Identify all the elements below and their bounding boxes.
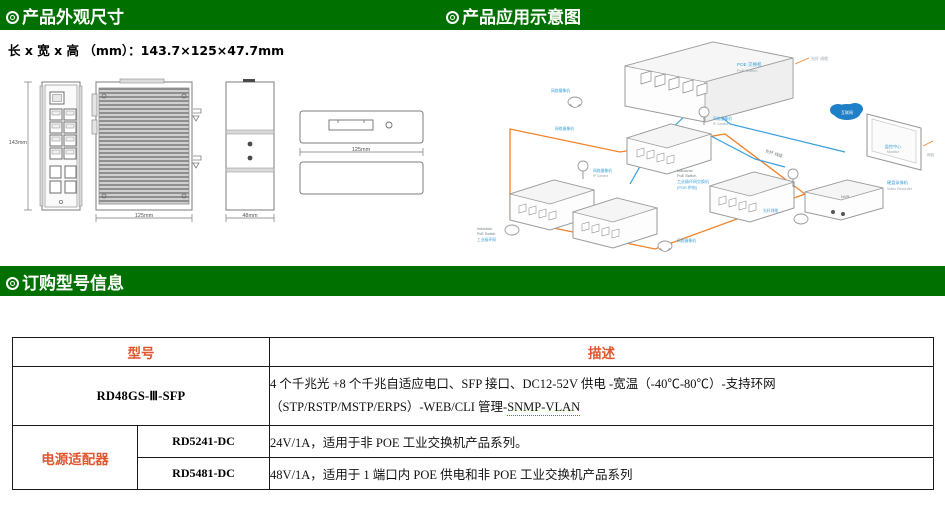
svg-text:125mm: 125mm	[352, 147, 371, 153]
section-header-bar-order: 订购型号信息	[0, 266, 945, 296]
product-dimension-drawings: 143mm 125mm	[0, 68, 440, 258]
svg-text:IP Camera: IP Camera	[593, 174, 608, 178]
svg-text:Industrial: Industrial	[677, 169, 693, 173]
core-switch-device: POE 交换机 PoE Switch 光纤 线缆	[625, 42, 828, 122]
svg-text:工业级环网: 工业级环网	[477, 237, 496, 242]
table-row: RD48GS-Ⅲ-SFP 4 个千兆光 +8 个千兆自适应电口、SFP 接口、D…	[13, 367, 934, 426]
svg-text:Industrial: Industrial	[477, 227, 492, 231]
section-title-dimensions: 产品外观尺寸	[6, 3, 124, 28]
column-header-description: 描述	[270, 338, 934, 367]
cell-description-main: 4 个千兆光 +8 个千兆自适应电口、SFP 接口、DC12-52V 供电 -宽…	[270, 367, 934, 426]
top-view-drawing: 125mm	[92, 79, 201, 222]
svg-text:网线: 网线	[927, 152, 935, 157]
section-title-application: 产品应用示意图	[446, 3, 581, 28]
svg-text:互联网: 互联网	[841, 109, 853, 115]
section-title-order: 订购型号信息	[6, 269, 124, 294]
order-info-table: 型号 描述 RD48GS-Ⅲ-SFP 4 个千兆光 +8 个千兆自适应电口、SF…	[12, 337, 934, 490]
section-title-order-label: 订购型号信息	[22, 274, 124, 294]
bullet-ring-icon	[6, 277, 19, 290]
rear-view-drawing: 125mm	[300, 111, 423, 156]
cell-adapter-desc-1: 24V/1A，适用于非 POE 工业交换机产品系列。	[270, 426, 934, 458]
desc-line-2: （STP/RSTP/MSTP/ERPS）-WEB/CLI 管理-SNMP-VLA…	[270, 396, 933, 419]
desc-line-2-underlined: SNMP-VLAN	[507, 400, 580, 416]
svg-text:光纤线缆: 光纤线缆	[763, 208, 778, 213]
table-row: 电源适配器 RD5241-DC 24V/1A，适用于非 POE 工业交换机产品系…	[13, 426, 934, 458]
dimension-spec-text: 长 x 宽 x 高 （mm）：143.7×125×47.7mm	[8, 40, 284, 59]
svg-text:48mm: 48mm	[242, 213, 258, 219]
svg-text:143mm: 143mm	[9, 140, 28, 146]
front-view-drawing: 143mm	[9, 82, 82, 210]
cable-label-fiber: 光纤 线缆	[764, 147, 784, 159]
svg-text:监控中心: 监控中心	[885, 143, 903, 150]
svg-text:光纤 线缆: 光纤 线缆	[811, 55, 828, 61]
svg-text:工业级环网交换机: 工业级环网交换机	[677, 178, 709, 184]
section-title-application-label: 产品应用示意图	[462, 8, 581, 28]
table-row: RD5481-DC 48V/1A，适用于 1 端口内 POE 供电和非 POE …	[13, 458, 934, 490]
column-header-model: 型号	[13, 338, 270, 367]
nvr-device: NVR 硬盘录像机 Video Recorder	[805, 179, 913, 220]
bullet-ring-icon	[6, 11, 19, 24]
svg-text:NVR: NVR	[841, 194, 850, 199]
cell-adapter-group-label: 电源适配器	[13, 426, 138, 490]
application-topology-diagram: POE 交换机 PoE Switch 光纤 线缆 互联网 监控中心 Monito…	[455, 34, 945, 264]
desc-line-2-pre: （STP/RSTP/MSTP/ERPS）-WEB/CLI 管理-	[270, 400, 507, 414]
svg-text:Monitor: Monitor	[887, 150, 900, 154]
cell-adapter-model-1: RD5241-DC	[138, 426, 270, 458]
desc-line-1: 4 个千兆光 +8 个千兆自适应电口、SFP 接口、DC12-52V 供电 -宽…	[270, 373, 933, 396]
svg-text:PoE Switch: PoE Switch	[677, 174, 696, 178]
svg-text:IP Camera: IP Camera	[713, 122, 728, 126]
svg-text:125mm: 125mm	[135, 213, 154, 219]
svg-text:POE 交换机: POE 交换机	[737, 61, 762, 68]
side-view-drawing: 48mm	[226, 79, 274, 222]
svg-text:PoE Switch: PoE Switch	[477, 232, 495, 236]
cable-label-1: 网络摄像机	[555, 126, 574, 131]
table-header-row: 型号 描述	[13, 338, 934, 367]
ip-camera-6	[505, 225, 519, 235]
svg-text:网络摄像机: 网络摄像机	[593, 168, 612, 173]
section-header-bar-top: 产品外观尺寸 产品应用示意图	[0, 0, 945, 30]
monitor-display-icon: 监控中心 Monitor 网线	[867, 114, 935, 170]
industrial-switch-3	[710, 172, 794, 222]
svg-text:网络摄像机: 网络摄像机	[677, 238, 696, 243]
internet-cloud-icon: 互联网	[830, 103, 863, 120]
cell-model-main: RD48GS-Ⅲ-SFP	[13, 367, 270, 426]
ip-camera-3: 网络摄像机 IP Camera	[578, 161, 612, 179]
svg-text:(POE 供电): (POE 供电)	[677, 184, 698, 190]
section-title-dimensions-label: 产品外观尺寸	[22, 8, 124, 28]
svg-text:硬盘录像机: 硬盘录像机	[887, 179, 909, 186]
bullet-ring-icon	[446, 11, 459, 24]
ip-camera-5: 网络摄像机	[658, 238, 696, 252]
cell-adapter-desc-2: 48V/1A，适用于 1 端口内 POE 供电和非 POE 工业交换机产品系列	[270, 458, 934, 490]
svg-text:网络摄像机: 网络摄像机	[713, 116, 732, 121]
svg-text:网络摄像机: 网络摄像机	[551, 88, 570, 93]
bottom-view-drawing	[300, 162, 423, 194]
svg-text:PoE Switch: PoE Switch	[737, 68, 757, 73]
ip-camera-1: 网络摄像机	[551, 88, 582, 108]
svg-text:Video Recorder: Video Recorder	[887, 187, 913, 191]
cell-adapter-model-2: RD5481-DC	[138, 458, 270, 490]
industrial-switch-1: Industrial PoE Switch 工业级环网交换机 (POE 供电)	[627, 124, 711, 190]
